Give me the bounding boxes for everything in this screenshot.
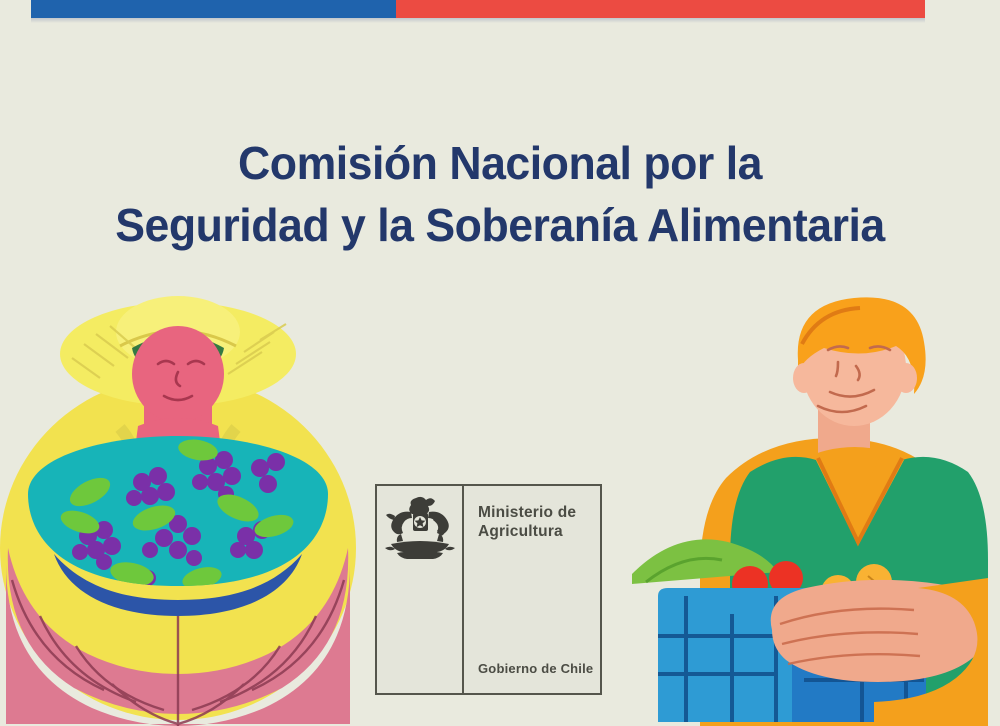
government-name: Gobierno de Chile — [478, 661, 593, 676]
flag-bar-red-segment — [396, 0, 925, 18]
page-title-line-1: Comisión Nacional por la — [15, 132, 985, 194]
chile-coat-of-arms-icon — [383, 496, 457, 568]
page-title-line-2: Seguridad y la Soberanía Alimentaria — [15, 194, 985, 256]
slide-canvas: Comisión Nacional por la Seguridad y la … — [0, 0, 1000, 726]
ministry-name: Ministerio de Agricultura — [478, 503, 576, 541]
chile-flag-bar — [31, 0, 925, 18]
flag-bar-blue-segment — [31, 0, 396, 18]
logo-emblem-panel — [377, 486, 464, 693]
ministry-name-line-2: Agricultura — [478, 522, 576, 541]
ministry-name-line-1: Ministerio de — [478, 503, 576, 522]
page-title: Comisión Nacional por la Seguridad y la … — [15, 132, 985, 256]
man-with-vegetable-crate-illustration — [622, 296, 1000, 726]
logo-text-panel: Ministerio de Agricultura Gobierno de Ch… — [464, 486, 600, 693]
flag-bar-shadow — [31, 18, 925, 23]
woman-with-fruit-bowl-illustration — [0, 286, 364, 726]
ministry-logo: Ministerio de Agricultura Gobierno de Ch… — [375, 484, 602, 695]
